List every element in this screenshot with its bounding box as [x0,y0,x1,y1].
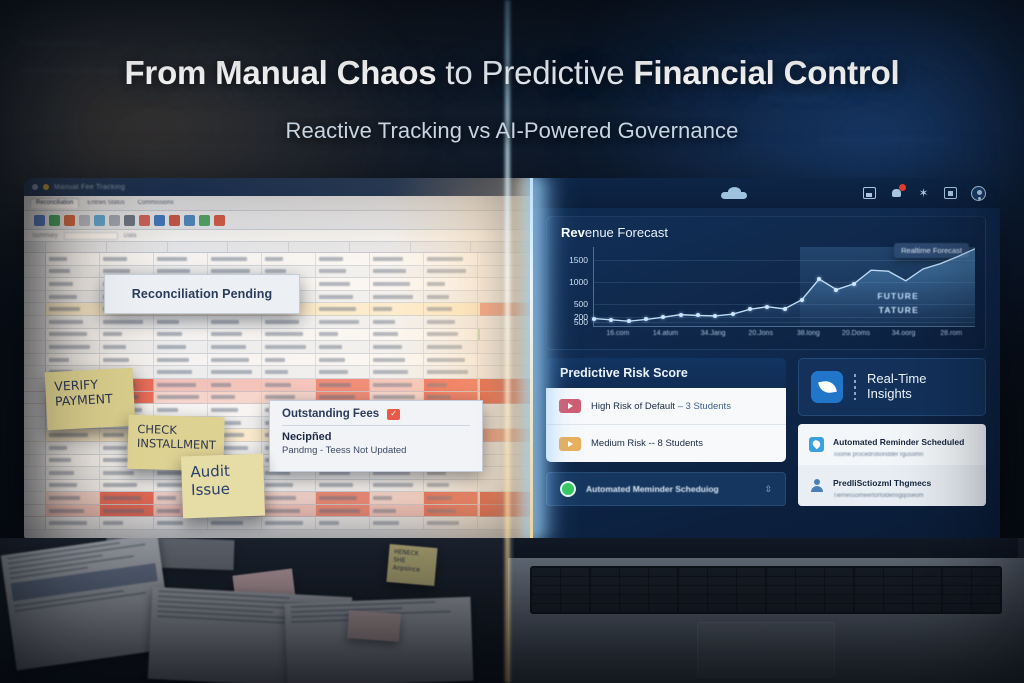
keyboard-key[interactable] [532,586,560,594]
keyboard-key[interactable] [679,595,707,603]
reconciliation-dialog-title: Reconciliation Pending [132,287,272,301]
table-cell[interactable] [262,366,316,378]
keyboard-key[interactable] [884,586,912,594]
ribbon-tab-entries[interactable]: Entries Status [82,199,129,207]
table-cell[interactable] [316,366,370,378]
cell-text [157,509,180,513]
table-cell[interactable] [208,341,262,353]
row-header[interactable] [24,429,46,441]
table-cell[interactable] [262,253,316,265]
keyboard-key[interactable] [796,604,824,612]
keyboard-key[interactable] [649,568,677,576]
cell-text [427,320,455,324]
table-cell[interactable] [316,329,370,341]
undo-icon[interactable] [109,215,120,226]
risk-row-high[interactable]: High Risk of Default – 3 Students [546,388,786,425]
table-row[interactable] [24,354,532,367]
table-cell[interactable] [370,266,424,278]
table-cell[interactable] [262,379,316,391]
table-cell[interactable] [154,316,208,328]
table-row[interactable] [24,316,532,329]
table-cell[interactable] [100,480,154,492]
keyboard-key[interactable] [767,595,795,603]
keyboard-key[interactable] [884,595,912,603]
keyboard-key[interactable] [620,595,648,603]
keyboard-key[interactable] [679,577,707,585]
row-header[interactable] [24,404,46,416]
table-cell[interactable] [208,517,262,529]
cell-text [157,370,192,374]
export-icon[interactable] [64,215,75,226]
keyboard-key[interactable] [532,568,560,576]
table-cell[interactable] [424,492,478,504]
ribbon-tab-reconciliation[interactable]: Reconciliation [30,198,79,208]
alert-icon[interactable] [214,215,225,226]
ribbon-tab-commissions[interactable]: Commissions [133,199,179,207]
keyboard-key[interactable] [679,568,707,576]
keyboard-key[interactable] [591,577,619,585]
table-cell[interactable] [46,480,100,492]
row-header[interactable] [24,316,46,328]
cell-text [373,320,395,324]
sticky-note-audit-issue: Audit Issue [181,454,265,519]
table-cell[interactable] [316,253,370,265]
table-row[interactable] [24,517,532,530]
keyboard-key[interactable] [913,577,941,585]
table-cell[interactable] [46,329,100,341]
row-header[interactable] [24,291,46,303]
keyboard-key[interactable] [649,595,677,603]
keyboard-key[interactable] [825,568,853,576]
table-cell[interactable] [370,253,424,265]
table-cell[interactable] [370,303,424,315]
keyboard-key[interactable] [855,604,883,612]
chart-data-point [627,319,631,323]
table-icon[interactable] [124,215,135,226]
keyboard-key[interactable] [620,568,648,576]
play-icon[interactable] [559,437,581,451]
table-cell[interactable] [154,253,208,265]
row-header[interactable] [24,417,46,429]
feed-item[interactable]: Automated Reminder Scheduled Toome proce… [798,424,986,465]
cell-text [157,383,196,387]
column-header[interactable] [350,242,411,252]
row-header[interactable] [24,392,46,404]
table-row[interactable] [24,492,532,505]
table-cell[interactable] [370,291,424,303]
table-cell[interactable] [46,505,100,517]
table-cell[interactable] [316,379,370,391]
keyboard-key[interactable] [767,604,795,612]
table-cell[interactable] [316,316,370,328]
table-cell[interactable] [208,392,262,404]
table-cell[interactable] [46,354,100,366]
table-cell[interactable] [154,354,208,366]
table-cell[interactable] [262,354,316,366]
table-cell[interactable] [46,303,100,315]
keyboard-key[interactable] [913,586,941,594]
table-cell[interactable] [262,492,316,504]
keyboard-key[interactable] [796,595,824,603]
cell-text [103,496,141,500]
keyboard-key[interactable] [884,604,912,612]
table-cell[interactable] [46,517,100,529]
table-cell[interactable] [370,505,424,517]
cell-text [103,320,143,324]
table-cell[interactable] [208,404,262,416]
chart-icon[interactable] [154,215,165,226]
table-cell[interactable] [316,480,370,492]
column-header[interactable] [471,242,532,252]
automated-reminder-bar[interactable]: Automated Meminder Scheduiog ⇳ [546,472,786,506]
table-row[interactable] [24,480,532,493]
keyboard-key[interactable] [855,568,883,576]
keyboard-key[interactable] [913,604,941,612]
keyboard-key[interactable] [708,568,736,576]
sum-icon[interactable] [79,215,90,226]
table-row[interactable] [24,341,532,354]
keyboard-key[interactable] [884,577,912,585]
table-cell[interactable] [370,329,424,341]
keyboard-key[interactable] [972,568,1000,576]
table-cell[interactable] [100,354,154,366]
keyboard-key[interactable] [708,595,736,603]
real-time-insights-card[interactable]: Real-Time Insights [798,358,986,416]
reconciliation-pending-dialog[interactable]: Reconciliation Pending [104,274,300,314]
keyboard-key[interactable] [708,586,736,594]
keyboard-key[interactable] [913,568,941,576]
table-cell[interactable] [316,517,370,529]
table-cell[interactable] [370,366,424,378]
table-cell[interactable] [370,480,424,492]
table-cell[interactable] [262,517,316,529]
row-header[interactable] [24,517,46,529]
table-cell[interactable] [154,379,208,391]
row-header[interactable] [24,303,46,315]
column-header[interactable] [107,242,168,252]
cell-text [319,257,343,261]
chart-title-bold: Rev [561,225,585,240]
table-cell[interactable] [208,379,262,391]
keyboard-key[interactable] [708,577,736,585]
cell-text [319,269,346,273]
device-screen: Manual Fee Tracking Reconciliation Entri… [24,178,1000,538]
table-cell[interactable] [100,316,154,328]
table-cell[interactable] [424,316,478,328]
pivot-icon[interactable] [169,215,180,226]
column-header[interactable] [289,242,350,252]
row-header[interactable] [24,341,46,353]
table-cell[interactable] [154,404,208,416]
table-cell[interactable] [262,505,316,517]
row-header[interactable] [24,329,46,341]
laptop-deck [508,558,1024,683]
table-cell[interactable] [316,303,370,315]
x-axis-tick: 28.rom [940,330,962,337]
row-header[interactable] [24,480,46,492]
hero-graphic: From Manual Chaos to Predictive Financia… [0,0,1024,683]
risk-medium-value: 8 Students [658,438,703,449]
chart-data-point [817,277,821,281]
keyboard-key[interactable] [532,595,560,603]
keyboard-key[interactable] [561,604,589,612]
table-cell[interactable] [316,278,370,290]
table-row[interactable] [24,329,532,342]
insert-icon[interactable] [139,215,150,226]
keyboard-key[interactable] [972,586,1000,594]
tools-icon[interactable]: ✶ [917,187,930,199]
table-cell[interactable] [208,253,262,265]
row-header[interactable] [24,253,46,265]
keyboard-key[interactable] [679,586,707,594]
column-header[interactable] [411,242,472,252]
table-cell[interactable] [154,329,208,341]
keyboard-key[interactable] [591,604,619,612]
table-cell[interactable] [100,341,154,353]
cell-text [265,320,299,324]
keyboard-key[interactable] [767,586,795,594]
risk-row-medium[interactable]: Medium Risk -- 8 Students [546,425,786,462]
paste-icon[interactable] [49,215,60,226]
chevron-updown-icon[interactable]: ⇳ [764,485,772,494]
row-header[interactable] [24,455,46,467]
table-cell[interactable] [100,253,154,265]
table-cell[interactable] [46,429,100,441]
table-cell[interactable] [46,467,100,479]
keyboard-key[interactable] [972,604,1000,612]
trackpad[interactable] [697,622,835,678]
keyboard-key[interactable] [561,577,589,585]
keyboard-key[interactable] [796,577,824,585]
keyboard-key[interactable] [855,586,883,594]
image-icon[interactable] [863,187,876,199]
table-cell[interactable] [46,278,100,290]
table-cell[interactable] [370,379,424,391]
row-header[interactable] [24,266,46,278]
chart-data-point [679,313,683,317]
cell-text [49,483,77,487]
keyboard-key[interactable] [561,586,589,594]
keyboard-key[interactable] [532,604,560,612]
table-cell[interactable] [154,366,208,378]
row-header[interactable] [24,379,46,391]
table-cell[interactable] [424,303,478,315]
table-cell[interactable] [424,266,478,278]
keyboard-key[interactable] [855,595,883,603]
red-check-icon[interactable] [387,409,400,420]
keyboard-key[interactable] [591,586,619,594]
table-row[interactable] [24,505,532,518]
table-cell[interactable] [46,253,100,265]
table-cell[interactable] [100,517,154,529]
table-cell[interactable] [316,492,370,504]
dashboard-toolbar-icons: ✶ [863,186,986,201]
outstanding-fees-dialog[interactable]: Outstanding Fees Necipñed Pandmg - Teess… [269,400,483,472]
keyboard-key[interactable] [737,595,765,603]
row-header[interactable] [24,442,46,454]
row-header[interactable] [24,366,46,378]
table-row[interactable] [24,253,532,266]
table-cell[interactable] [424,253,478,265]
avatar-icon[interactable] [971,186,986,201]
keyboard-key[interactable] [737,604,765,612]
table-cell[interactable] [316,505,370,517]
keyboard-key[interactable] [649,577,677,585]
keyboard-key[interactable] [679,604,707,612]
table-cell[interactable] [46,442,100,454]
chart-data-point [661,315,665,319]
keyboard-key[interactable] [737,586,765,594]
cell-text [373,383,412,387]
formula-bar[interactable]: Summary Data [24,230,532,242]
table-cell[interactable] [370,278,424,290]
keyboard-key[interactable] [620,586,648,594]
keyboard-key[interactable] [649,604,677,612]
keyboard-key[interactable] [561,595,589,603]
formula-input[interactable] [64,232,118,240]
keyboard[interactable] [530,566,1002,614]
save-icon[interactable] [34,215,45,226]
keyboard-key[interactable] [943,586,971,594]
keyboard-key[interactable] [855,577,883,585]
table-cell[interactable] [208,329,262,341]
cell-text [427,509,456,513]
table-cell[interactable] [262,316,316,328]
table-cell[interactable] [262,329,316,341]
keyboard-key[interactable] [972,577,1000,585]
keyboard-key[interactable] [943,595,971,603]
cell-text [427,269,466,273]
keyboard-key[interactable] [825,595,853,603]
table-cell[interactable] [316,266,370,278]
cloud-icon[interactable] [94,215,105,226]
keyboard-key[interactable] [532,577,560,585]
row-header[interactable] [24,354,46,366]
insights-line1: Real-Time [867,371,926,386]
table-cell[interactable] [370,492,424,504]
keyboard-key[interactable] [561,568,589,576]
status-cell [480,467,532,480]
table-cell[interactable] [316,291,370,303]
table-cell[interactable] [370,517,424,529]
keyboard-key[interactable] [649,586,677,594]
keyboard-key[interactable] [825,586,853,594]
table-cell[interactable] [370,341,424,353]
keyboard-key[interactable] [591,568,619,576]
keyboard-key[interactable] [796,568,824,576]
table-cell[interactable] [424,341,478,353]
table-cell[interactable] [316,341,370,353]
table-cell[interactable] [424,517,478,529]
keyboard-key[interactable] [708,604,736,612]
table-cell[interactable] [370,354,424,366]
row-header[interactable] [24,505,46,517]
table-cell[interactable] [46,266,100,278]
column-header[interactable] [168,242,229,252]
keyboard-key[interactable] [767,577,795,585]
cell-text [427,521,459,525]
keyboard-key[interactable] [620,604,648,612]
table-cell[interactable] [46,316,100,328]
pink-note [347,610,401,642]
laptop-lid-edge [514,538,1018,560]
keyboard-key[interactable] [943,577,971,585]
row-header[interactable] [24,467,46,479]
column-header[interactable] [228,242,289,252]
keyboard-key[interactable] [884,568,912,576]
table-cell[interactable] [208,366,262,378]
table-cell[interactable] [46,455,100,467]
keyboard-key[interactable] [796,586,824,594]
table-cell[interactable] [262,480,316,492]
table-cell[interactable] [370,316,424,328]
table-cell[interactable] [154,392,208,404]
cell-text [103,269,130,273]
table-cell[interactable] [262,341,316,353]
table-cell[interactable] [46,492,100,504]
status-cell [480,392,532,405]
cell-text [373,370,408,374]
table-cell[interactable] [424,379,478,391]
keyboard-key[interactable] [767,568,795,576]
keyboard-key[interactable] [913,595,941,603]
cell-text [373,269,406,273]
table-cell[interactable] [208,354,262,366]
table-cell[interactable] [424,480,478,492]
table-cell[interactable] [154,341,208,353]
row-header[interactable] [24,492,46,504]
keyboard-key[interactable] [943,604,971,612]
keyboard-key[interactable] [737,568,765,576]
sticky-note-verify-payment: VERIFY PAYMENT [45,368,136,431]
keyboard-key[interactable] [825,577,853,585]
filter-icon[interactable] [184,215,195,226]
table-cell[interactable] [424,278,478,290]
bell-icon[interactable] [890,187,903,199]
column-header[interactable] [46,242,107,252]
status-cell [480,417,532,430]
keyboard-key[interactable] [591,595,619,603]
table-cell[interactable] [424,505,478,517]
status-cell [480,429,532,442]
feed-item[interactable]: PredliSctiozml Thgmecs Tiemessomeertorfo… [798,465,986,506]
table-cell[interactable] [316,354,370,366]
table-cell[interactable] [424,366,478,378]
table-cell[interactable] [100,505,154,517]
water-drop-icon [809,437,824,452]
sort-icon[interactable] [199,215,210,226]
cell-text [373,345,402,349]
table-cell[interactable] [100,492,154,504]
keyboard-key[interactable] [943,568,971,576]
table-cell[interactable] [424,354,478,366]
square-icon[interactable] [944,187,957,199]
table-cell[interactable] [46,291,100,303]
keyboard-key[interactable] [972,595,1000,603]
table-cell[interactable] [46,341,100,353]
table-cell[interactable] [154,517,208,529]
keyboard-key[interactable] [620,577,648,585]
play-icon[interactable] [559,399,581,413]
row-header[interactable] [24,278,46,290]
table-cell[interactable] [208,316,262,328]
status-column [480,253,532,538]
keyboard-key[interactable] [825,604,853,612]
keyboard-key[interactable] [737,577,765,585]
table-cell[interactable] [100,329,154,341]
table-cell[interactable] [424,329,478,341]
table-cell[interactable] [424,291,478,303]
